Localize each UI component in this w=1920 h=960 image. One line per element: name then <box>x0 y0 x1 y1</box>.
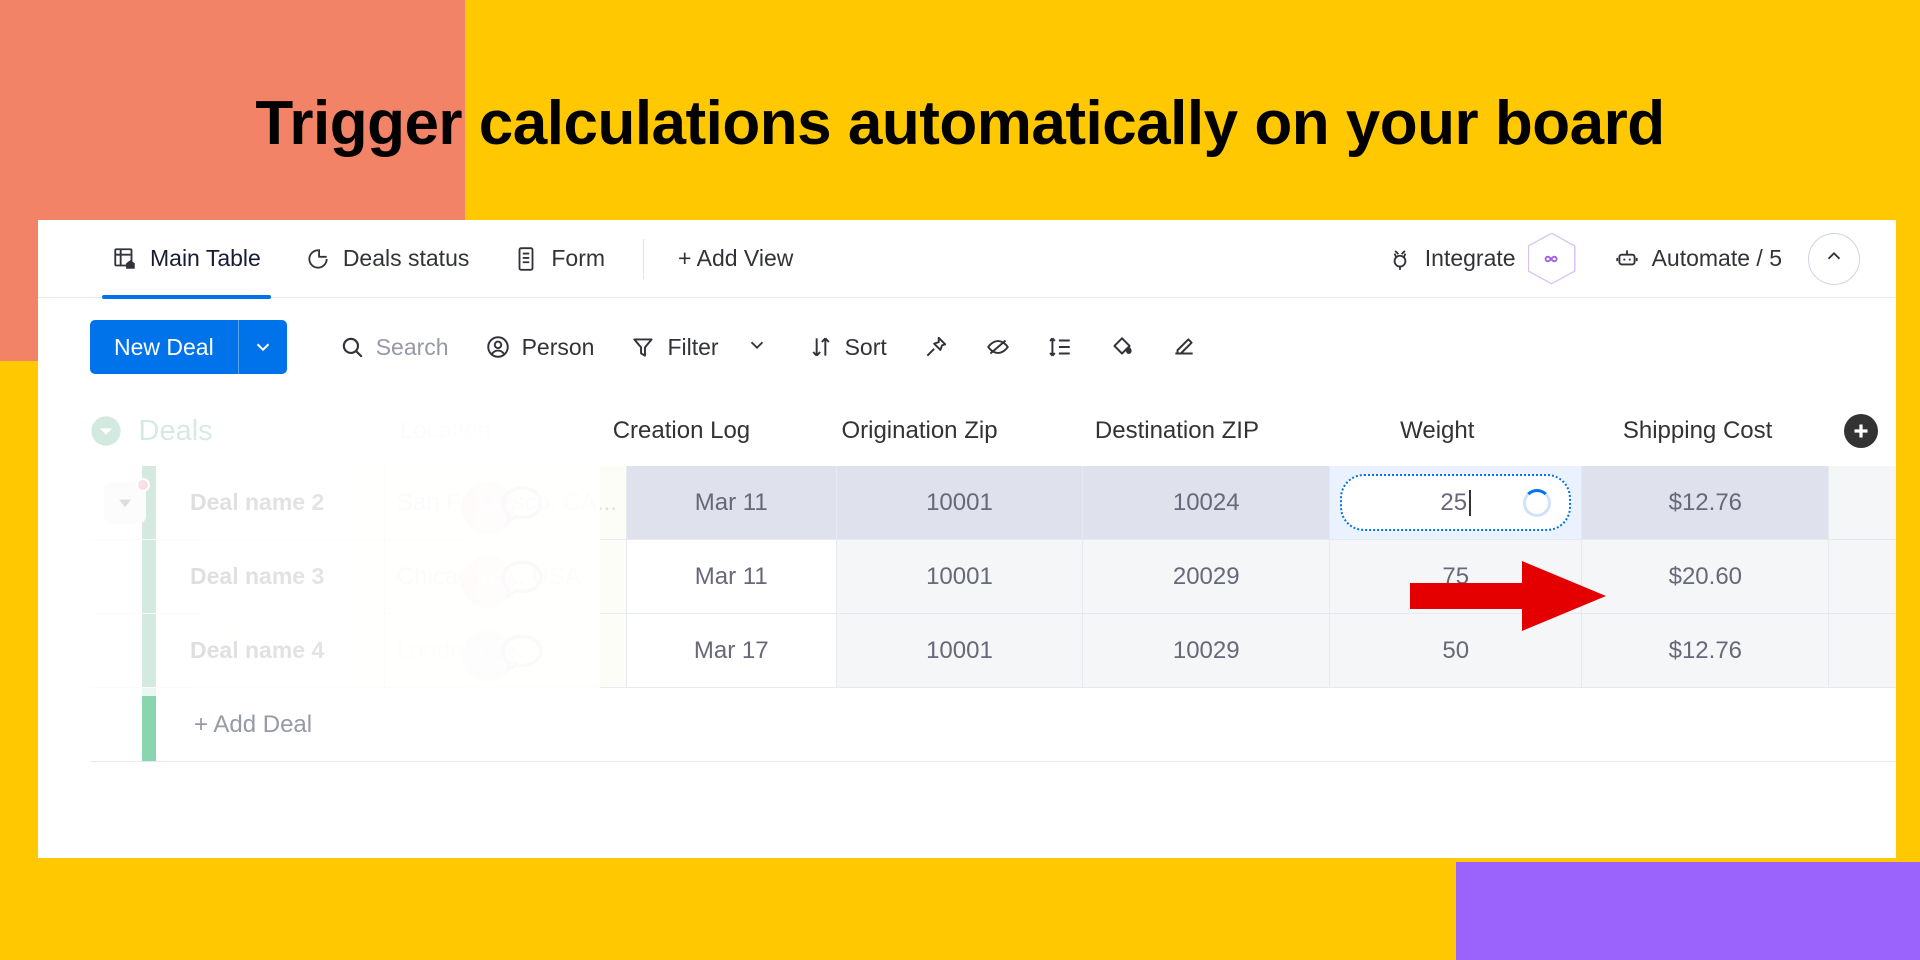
board-views-right-actions: Integrate Automate / 5 <box>1375 233 1860 285</box>
pin-icon <box>923 334 949 360</box>
footer-block-purple <box>1456 862 1920 960</box>
row-height-icon <box>1047 334 1073 360</box>
chevron-up-icon <box>1823 245 1845 272</box>
column-header-creation-log[interactable]: Creation Log <box>572 417 791 445</box>
person-filter-button[interactable]: Person <box>467 320 613 374</box>
add-column-button[interactable] <box>1826 414 1896 448</box>
footer-block-yellow <box>0 862 1456 960</box>
row-group-color <box>142 688 156 761</box>
plus-icon <box>1844 414 1878 448</box>
add-view-label: + Add View <box>678 245 793 272</box>
integrate-button[interactable]: Integrate <box>1375 233 1588 285</box>
cell-creation-log[interactable]: Mar 11 <box>627 540 837 613</box>
automate-button[interactable]: Automate / 5 <box>1602 245 1794 272</box>
cell-empty <box>1829 466 1896 539</box>
cell-origination-zip[interactable]: 10001 <box>837 614 1084 687</box>
cell-destination-zip[interactable]: 20029 <box>1083 540 1330 613</box>
search-icon <box>339 334 365 360</box>
edit-pencil-icon <box>1171 334 1197 360</box>
cell-origination-zip[interactable]: 10001 <box>837 540 1084 613</box>
paint-bucket-icon <box>1109 334 1135 360</box>
table-row[interactable]: Deal name 4 London, UK Mar 17 10001 1002… <box>90 614 1896 688</box>
cell-deal-name[interactable]: Deal name 2 <box>156 466 385 539</box>
tab-main-table[interactable]: Main Table <box>90 220 283 298</box>
column-header-destination-zip[interactable]: Destination ZIP <box>1048 417 1305 445</box>
automate-label: Automate / 5 <box>1652 245 1782 272</box>
group-title[interactable]: Deals <box>135 415 319 448</box>
cell-weight[interactable]: 25 <box>1330 466 1582 539</box>
add-view-button[interactable]: + Add View <box>660 245 811 272</box>
form-icon <box>513 246 539 272</box>
sort-icon <box>808 334 834 360</box>
row-notification-dot <box>136 478 150 492</box>
weight-input-value: 25 <box>1440 489 1467 517</box>
integrate-label: Integrate <box>1425 245 1516 272</box>
cell-creation-log[interactable]: Mar 17 <box>627 614 837 687</box>
tab-deals-status[interactable]: Deals status <box>283 220 492 298</box>
page-title: Trigger calculations automatically on yo… <box>0 88 1920 160</box>
table-header-row: Deals Location Creation Log Origination … <box>90 396 1896 466</box>
hide-columns-button[interactable] <box>967 320 1029 374</box>
loading-spinner-icon <box>1523 489 1551 517</box>
table-row[interactable]: Deal name 3 Chicago, IL, USA Mar 11 1000… <box>90 540 1896 614</box>
edit-board-button[interactable] <box>1153 320 1215 374</box>
cell-location[interactable]: Chicago, IL, USA <box>385 540 627 613</box>
cell-shipping-cost[interactable]: $12.76 <box>1582 614 1829 687</box>
filter-label: Filter <box>667 334 718 361</box>
person-icon <box>485 334 511 360</box>
cell-weight[interactable]: 75 <box>1330 540 1582 613</box>
collapse-group-icon[interactable] <box>90 415 135 447</box>
cell-destination-zip[interactable]: 10024 <box>1083 466 1330 539</box>
new-deal-label: New Deal <box>90 320 238 374</box>
search-button[interactable]: Search <box>321 320 467 374</box>
filter-button[interactable]: Filter <box>612 320 789 374</box>
cell-weight[interactable]: 50 <box>1330 614 1582 687</box>
cell-empty <box>1829 614 1896 687</box>
cell-shipping-cost[interactable]: $12.76 <box>1582 466 1829 539</box>
row-group-color <box>142 614 156 687</box>
cell-creation-log[interactable]: Mar 11 <box>627 466 837 539</box>
pin-button[interactable] <box>905 320 967 374</box>
person-label: Person <box>522 334 595 361</box>
chevron-down-icon[interactable] <box>239 320 287 374</box>
pie-chart-icon <box>305 246 331 272</box>
tab-main-table-label: Main Table <box>150 245 261 272</box>
toolbar-divider <box>643 239 644 279</box>
board-card: Main Table Deals status Form + Add <box>38 220 1896 858</box>
robot-icon <box>1614 246 1640 272</box>
text-cursor <box>1469 490 1471 516</box>
cell-destination-zip[interactable]: 10029 <box>1083 614 1330 687</box>
board-action-toolbar: New Deal Search Per <box>38 298 1896 396</box>
cell-empty <box>1829 540 1896 613</box>
table-home-icon <box>112 246 138 272</box>
add-deal-label: + Add Deal <box>156 688 1896 761</box>
eye-off-icon <box>985 334 1011 360</box>
cell-location[interactable]: London, UK <box>385 614 627 687</box>
cell-origination-zip[interactable]: 10001 <box>837 466 1084 539</box>
cell-deal-name[interactable]: Deal name 3 <box>156 540 385 613</box>
infinity-icon[interactable] <box>1528 233 1576 285</box>
column-header-weight[interactable]: Weight <box>1306 417 1569 445</box>
integrate-icon <box>1387 246 1413 272</box>
board-views-bar: Main Table Deals status Form + Add <box>38 220 1896 298</box>
row-group-color <box>142 540 156 613</box>
cell-shipping-cost[interactable]: $20.60 <box>1582 540 1829 613</box>
board-table: Deals Location Creation Log Origination … <box>38 396 1896 762</box>
sort-button[interactable]: Sort <box>790 320 905 374</box>
tab-form[interactable]: Form <box>491 220 627 298</box>
search-label: Search <box>376 334 449 361</box>
chevron-down-icon[interactable] <box>746 334 772 360</box>
column-header-location[interactable]: Location <box>319 417 573 445</box>
tab-form-label: Form <box>551 245 605 272</box>
collapse-board-header-button[interactable] <box>1808 233 1860 285</box>
cell-location[interactable]: San Francisco, CA... <box>385 466 627 539</box>
sort-label: Sort <box>845 334 887 361</box>
filter-icon <box>630 334 656 360</box>
tab-deals-status-label: Deals status <box>343 245 470 272</box>
table-row[interactable]: Deal name 2 San Francisco, CA... Mar 11 … <box>90 466 1896 540</box>
row-height-button[interactable] <box>1029 320 1091 374</box>
row-expand-button[interactable] <box>104 482 146 524</box>
add-deal-row[interactable]: + Add Deal <box>90 688 1896 762</box>
column-header-shipping-cost[interactable]: Shipping Cost <box>1569 417 1826 445</box>
color-board-button[interactable] <box>1091 320 1153 374</box>
column-header-origination-zip[interactable]: Origination Zip <box>791 417 1048 445</box>
cell-deal-name[interactable]: Deal name 4 <box>156 614 385 687</box>
new-deal-button[interactable]: New Deal <box>90 320 287 374</box>
